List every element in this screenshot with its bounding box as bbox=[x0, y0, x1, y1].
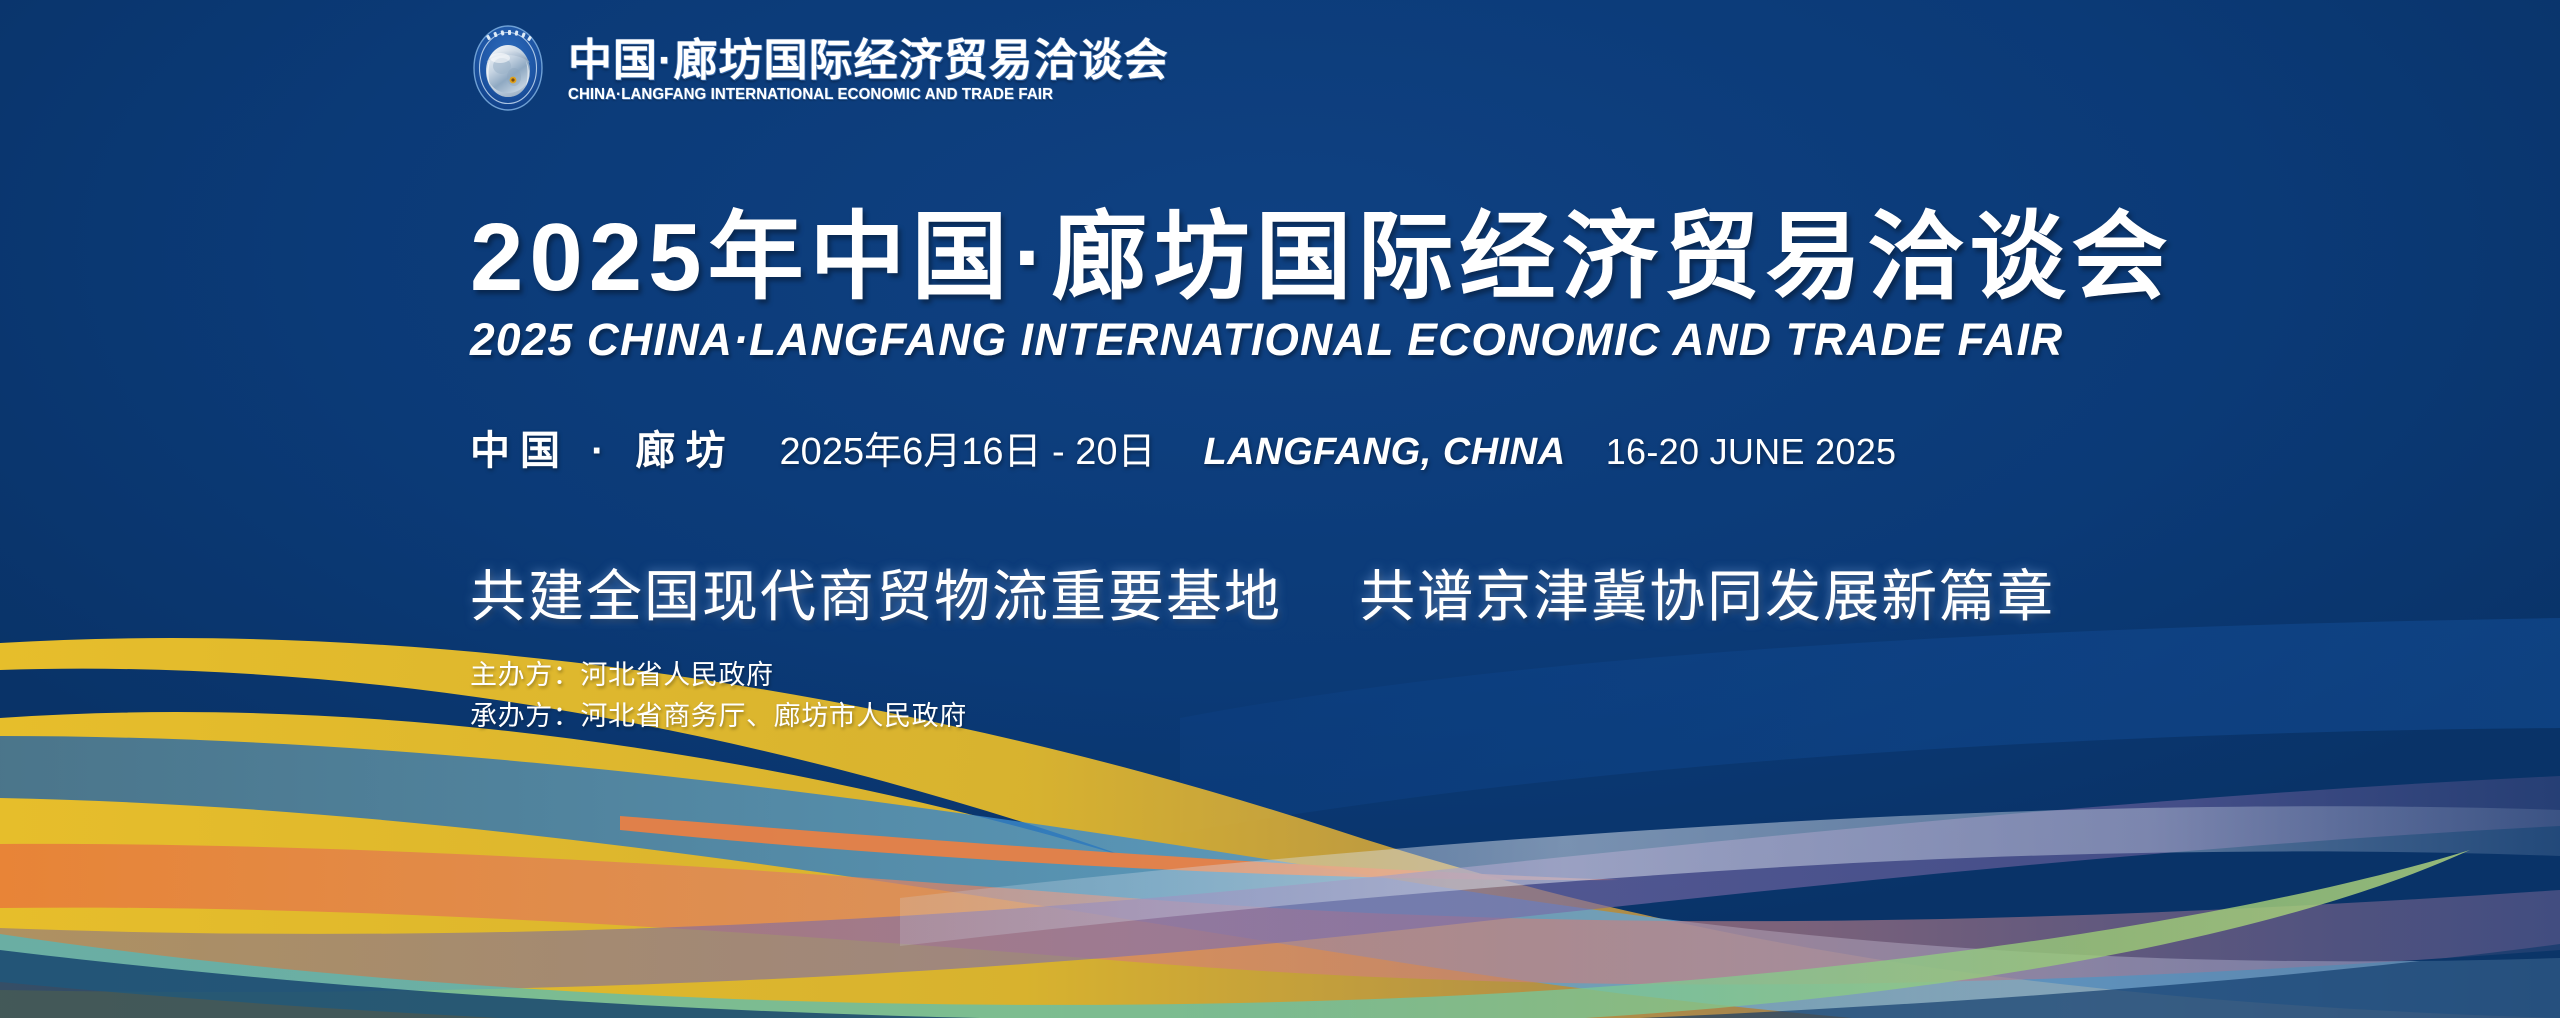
page-title-cn: 2025年中国·廊坊国际经济贸易洽谈会 bbox=[470, 206, 2170, 310]
event-meta-row: 中国 · 廊坊 2025年6月16日 - 20日 LANGFANG, CHINA… bbox=[470, 418, 1896, 476]
logo-wordmark: 中国·廊坊国际经济贸易洽谈会 CHINA·LANGFANG INTERNATIO… bbox=[568, 32, 1169, 104]
globe-emblem-icon bbox=[462, 22, 554, 114]
event-place-cn: 中国 · 廊坊 bbox=[470, 418, 736, 476]
slogan-part-2: 共谱京津冀协同发展新篇章 bbox=[1359, 565, 2055, 628]
slogan-part-1: 共建全国现代商贸物流重要基地 bbox=[470, 565, 1282, 628]
organizer-block: 主办方：河北省人民政府 承办方：河北省商务厅、廊坊市人民政府 bbox=[470, 655, 967, 737]
event-date-en: 16-20 JUNE 2025 bbox=[1606, 431, 1897, 473]
fair-logo-lockup: 中国·廊坊国际经济贸易洽谈会 CHINA·LANGFANG INTERNATIO… bbox=[462, 22, 1169, 114]
logo-name-cn: 中国·廊坊国际经济贸易洽谈会 bbox=[568, 38, 1169, 84]
event-place-en: LANGFANG, CHINA bbox=[1204, 431, 1566, 474]
headline-block: 2025年中国·廊坊国际经济贸易洽谈会 2025 CHINA·LANGFANG … bbox=[470, 206, 2170, 366]
event-slogan: 共建全国现代商贸物流重要基地 共谱京津冀协同发展新篇章 bbox=[470, 552, 2055, 633]
logo-name-en: CHINA·LANGFANG INTERNATIONAL ECONOMIC AN… bbox=[568, 86, 1151, 104]
organizer-host: 主办方：河北省人民政府 bbox=[470, 655, 967, 696]
event-banner: 中国·廊坊国际经济贸易洽谈会 CHINA·LANGFANG INTERNATIO… bbox=[0, 0, 2560, 1018]
decorative-wave-graphic bbox=[0, 598, 2560, 1018]
page-title-en: 2025 CHINA·LANGFANG INTERNATIONAL ECONOM… bbox=[470, 314, 2145, 366]
organizer-coorganizer: 承办方：河北省商务厅、廊坊市人民政府 bbox=[470, 696, 967, 737]
event-date-cn: 2025年6月16日 - 20日 bbox=[780, 420, 1156, 475]
